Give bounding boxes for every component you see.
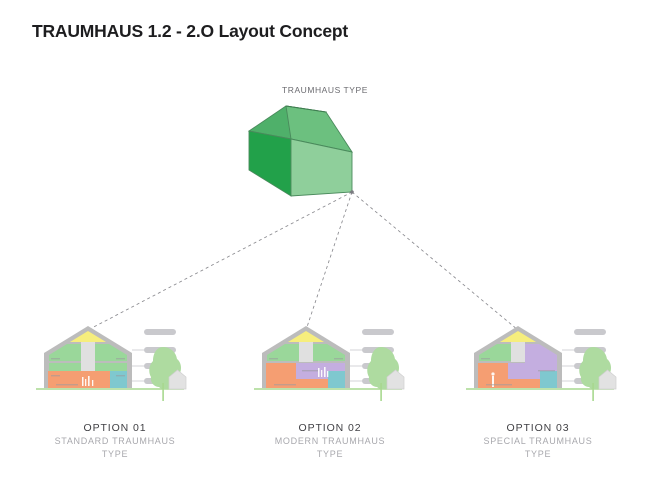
- option-01-caption: OPTION 01 STANDARD TRAUMHAUS TYPE: [20, 421, 210, 460]
- connector-origin-node: [350, 190, 354, 194]
- root-house-volume: [249, 106, 352, 196]
- option-03-subtitle: SPECIAL TRAUMHAUS TYPE: [443, 435, 633, 460]
- option-02-title: OPTION 02: [235, 421, 425, 435]
- connector-to-option-01: [88, 192, 352, 330]
- connector-group: [88, 192, 518, 330]
- option-01-subtitle: STANDARD TRAUMHAUS TYPE: [20, 435, 210, 460]
- ground-floor-zone: [266, 379, 328, 388]
- root-gable-face: [249, 131, 291, 196]
- circulation-core: [299, 342, 313, 362]
- option-03-title: OPTION 03: [443, 421, 633, 435]
- option-01-title: OPTION 01: [20, 421, 210, 435]
- annex-zone: [110, 371, 127, 388]
- ground-floor-zone: [48, 371, 110, 388]
- option-03-caption: OPTION 03 SPECIAL TRAUMHAUS TYPE: [443, 421, 633, 460]
- option-02-illustration: [254, 326, 404, 401]
- ground-floor-zone: [478, 379, 540, 388]
- option-01-illustration: [36, 326, 186, 401]
- option-02-subtitle: MODERN TRAUMHAUS TYPE: [235, 435, 425, 460]
- annex-zone: [328, 371, 345, 388]
- diagram-svg: [0, 0, 650, 481]
- option-02-caption: OPTION 02 MODERN TRAUMHAUS TYPE: [235, 421, 425, 460]
- diagram-canvas: TRAUMHAUS 1.2 - 2.O Layout Concept TRAUM…: [0, 0, 650, 481]
- connector-to-option-03: [352, 192, 518, 330]
- circulation-core: [511, 342, 525, 362]
- option-03-illustration: [466, 326, 616, 401]
- annex-zone: [540, 371, 557, 388]
